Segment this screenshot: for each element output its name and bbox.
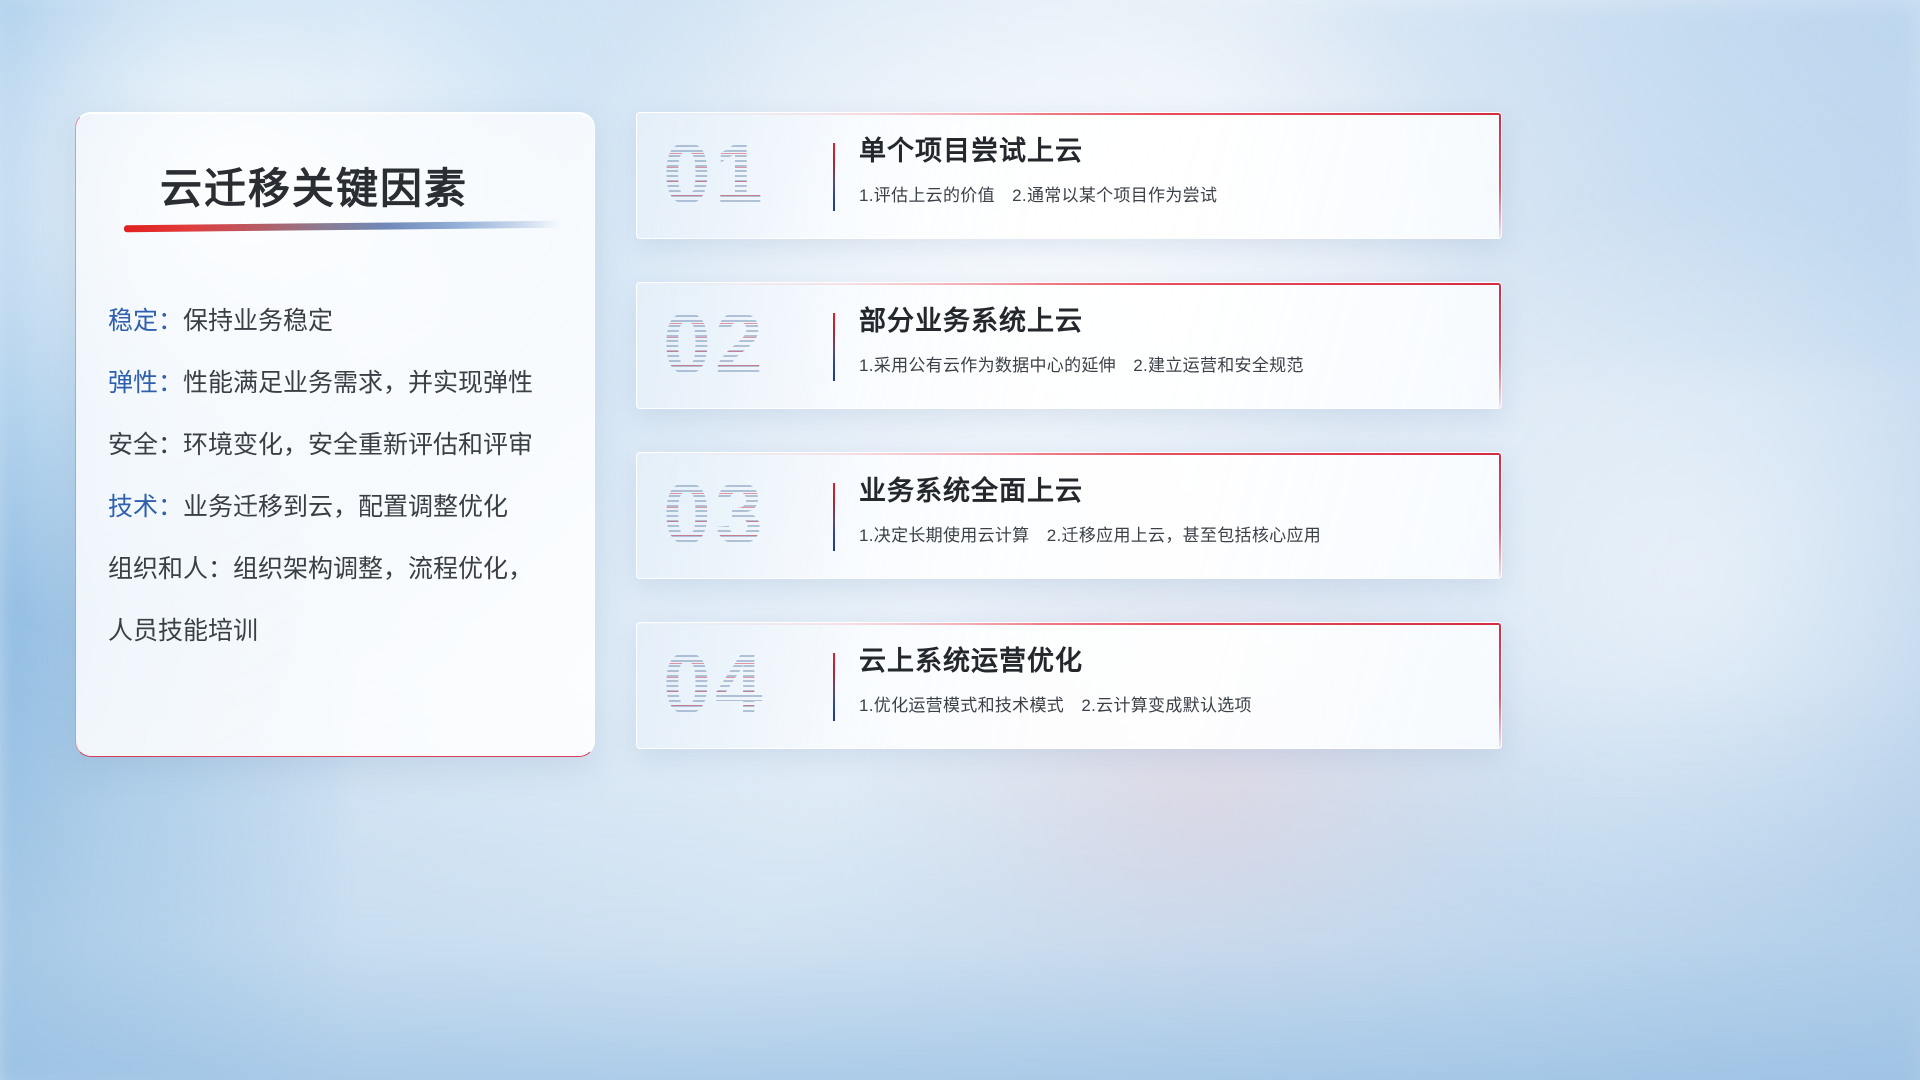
factor-label: 技术： xyxy=(108,495,183,520)
factor-item-organization: 组织和人： 组织架构调整，流程优化， xyxy=(108,557,574,582)
stage-number-03: 03 xyxy=(663,465,767,564)
card-detail: 1.决定长期使用云计算 2.迁移应用上云，甚至包括核心应用 xyxy=(859,521,1475,546)
stage-card-02[interactable]: 02 02 部分业务系统上云 1.采用公有云作为数据中心的延伸 2.建立运营和安… xyxy=(636,282,1502,409)
factor-description: 性能满足业务需求，并实现弹性 xyxy=(183,371,533,396)
slide-stage: 云迁移关键因素 稳定： 保持业务稳定 弹性： 性能满足业务需求，并实现弹性 安全… xyxy=(0,0,1920,1080)
factor-label: 稳定： xyxy=(108,309,183,334)
factor-description: 保持业务稳定 xyxy=(183,309,333,334)
stage-number-02: 02 xyxy=(663,295,767,394)
card-detail: 1.评估上云的价值 2.通常以某个项目作为尝试 xyxy=(859,181,1475,206)
stage-number-01: 01 xyxy=(663,125,767,224)
title-underline-gradient xyxy=(124,221,560,233)
card-title: 单个项目尝试上云 xyxy=(859,135,1475,167)
card-text-block: 单个项目尝试上云 1.评估上云的价值 2.通常以某个项目作为尝试 xyxy=(859,135,1475,206)
factor-label: 弹性： xyxy=(108,371,183,396)
factor-item-technology: 技术： 业务迁移到云，配置调整优化 xyxy=(108,495,574,520)
stage-number-04: 04 xyxy=(663,635,767,734)
factor-item-elasticity: 弹性： 性能满足业务需求，并实现弹性 xyxy=(108,371,574,396)
card-text-block: 云上系统运营优化 1.优化运营模式和技术模式 2.云计算变成默认选项 xyxy=(859,645,1475,716)
card-detail: 1.优化运营模式和技术模式 2.云计算变成默认选项 xyxy=(859,691,1475,716)
factor-label: 安全： xyxy=(108,433,183,458)
card-accent-divider xyxy=(833,313,835,381)
factor-description: 环境变化，安全重新评估和评审 xyxy=(183,433,533,458)
stage-card-03[interactable]: 03 03 业务系统全面上云 1.决定长期使用云计算 2.迁移应用上云，甚至包括… xyxy=(636,452,1502,579)
card-detail: 1.采用公有云作为数据中心的延伸 2.建立运营和安全规范 xyxy=(859,351,1475,376)
migration-stage-card-list: 01 01 单个项目尝试上云 1.评估上云的价值 2.通常以某个项目作为尝试 0… xyxy=(636,112,1502,792)
card-title: 云上系统运营优化 xyxy=(859,645,1475,677)
stage-card-01[interactable]: 01 01 单个项目尝试上云 1.评估上云的价值 2.通常以某个项目作为尝试 xyxy=(636,112,1502,239)
factor-label: 组织和人： xyxy=(108,557,233,582)
card-text-block: 部分业务系统上云 1.采用公有云作为数据中心的延伸 2.建立运营和安全规范 xyxy=(859,305,1475,376)
stage-card-04[interactable]: 04 04 云上系统运营优化 1.优化运营模式和技术模式 2.云计算变成默认选项 xyxy=(636,622,1502,749)
card-accent-divider xyxy=(833,483,835,551)
factor-item-security: 安全： 环境变化，安全重新评估和评审 xyxy=(108,433,574,458)
page-title: 云迁移关键因素 xyxy=(160,155,468,216)
factor-description: 业务迁移到云，配置调整优化 xyxy=(183,495,508,520)
key-factors-panel: 云迁移关键因素 稳定： 保持业务稳定 弹性： 性能满足业务需求，并实现弹性 安全… xyxy=(75,112,595,757)
factor-item-stability: 稳定： 保持业务稳定 xyxy=(108,309,574,334)
card-accent-divider xyxy=(833,653,835,721)
factor-item-organization-continued: 人员技能培训 xyxy=(108,619,574,644)
card-text-block: 业务系统全面上云 1.决定长期使用云计算 2.迁移应用上云，甚至包括核心应用 xyxy=(859,475,1475,546)
factor-description-continued: 人员技能培训 xyxy=(108,619,258,644)
factor-list: 稳定： 保持业务稳定 弹性： 性能满足业务需求，并实现弹性 安全： 环境变化，安… xyxy=(108,309,574,644)
factor-description: 组织架构调整，流程优化， xyxy=(233,557,533,582)
card-title: 部分业务系统上云 xyxy=(859,305,1475,337)
card-title: 业务系统全面上云 xyxy=(859,475,1475,507)
card-accent-divider xyxy=(833,143,835,211)
